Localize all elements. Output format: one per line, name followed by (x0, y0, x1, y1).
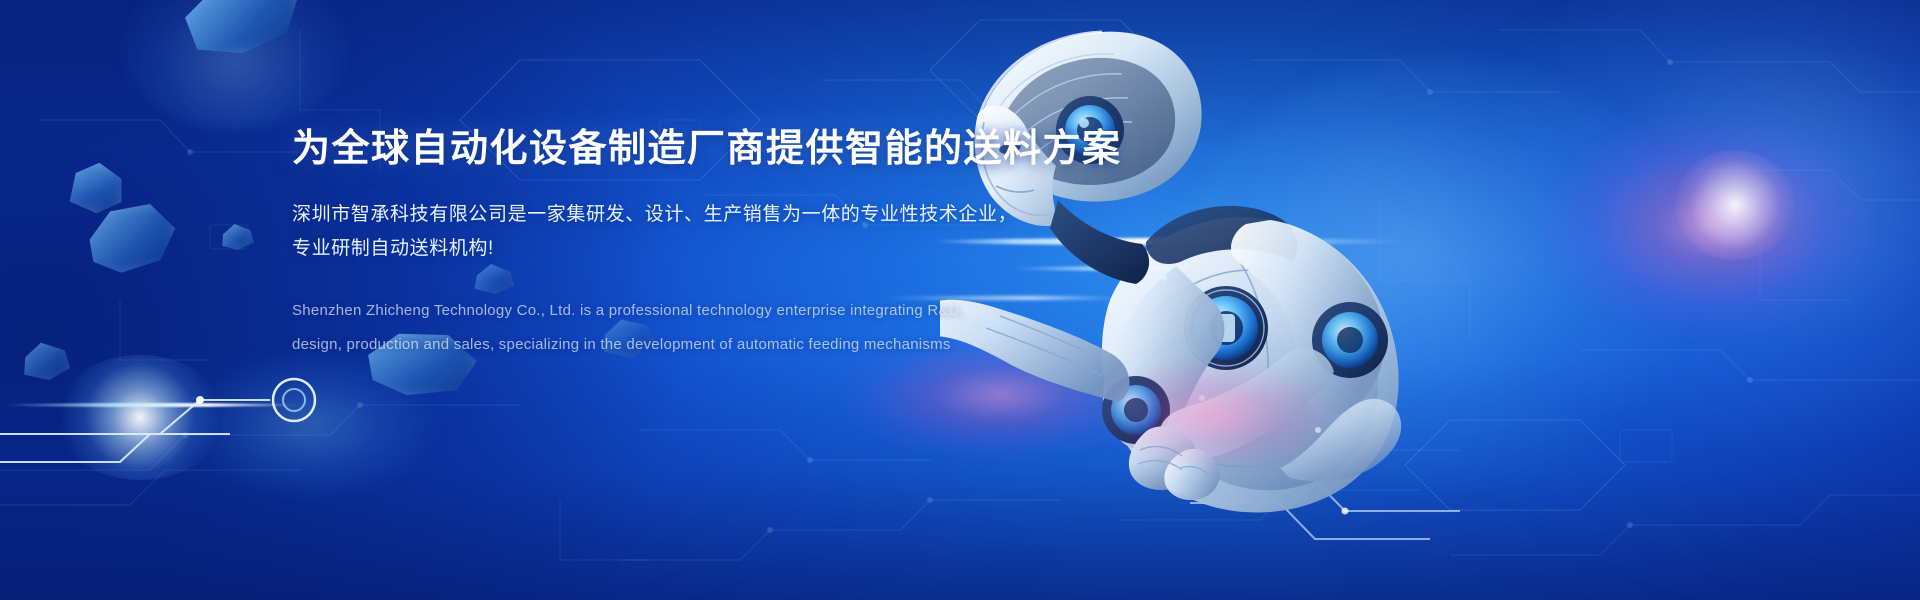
subtitle-cn-line-2: 专业研制自动送料机构! (292, 232, 1112, 266)
banner-subtitle-chinese: 深圳市智承科技有限公司是一家集研发、设计、生产销售为一体的专业性技术企业， 专业… (292, 198, 1112, 266)
subtitle-cn-line-1: 深圳市智承科技有限公司是一家集研发、设计、生产销售为一体的专业性技术企业， (292, 198, 1112, 232)
node-circuit-bottom-left (0, 370, 400, 480)
banner-text-block: 为全球自动化设备制造厂商提供智能的送料方案 深圳市智承科技有限公司是一家集研发、… (292, 128, 1112, 362)
banner-subtitle-english: Shenzhen Zhicheng Technology Co., Ltd. i… (292, 294, 1112, 362)
subtitle-en-line-2: design, production and sales, specializi… (292, 328, 1112, 362)
banner-headline: 为全球自动化设备制造厂商提供智能的送料方案 (292, 128, 1112, 172)
hero-banner: 为全球自动化设备制造厂商提供智能的送料方案 深圳市智承科技有限公司是一家集研发、… (0, 0, 1920, 600)
subtitle-en-line-1: Shenzhen Zhicheng Technology Co., Ltd. i… (292, 294, 1112, 328)
